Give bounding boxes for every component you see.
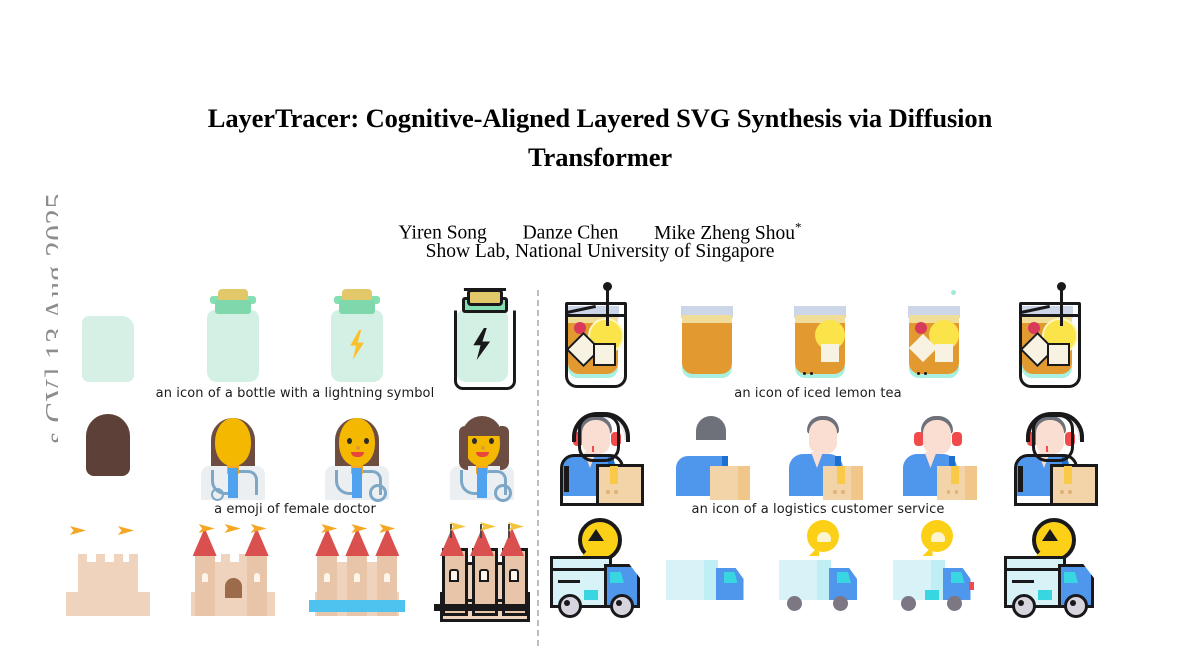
face-shape: [215, 418, 251, 466]
tea-step-4-art: [1002, 288, 1088, 384]
wheel-shape: [558, 594, 582, 618]
castle-tower: [472, 520, 492, 616]
left-panel: an icon of a bottle with a lightning sym…: [60, 288, 530, 636]
figure-cell: [1002, 520, 1088, 616]
wheel-hub-shape: [616, 600, 622, 606]
figure-cell: [434, 520, 530, 616]
stethoscope-icon: [239, 470, 258, 495]
agent-step-1-art: [662, 404, 748, 500]
tower-window-shape: [509, 569, 519, 582]
tower-roof-shape: [315, 528, 339, 556]
step-shape: [1038, 590, 1052, 600]
cargo-line-shape: [558, 580, 580, 583]
box-dot-shape: [614, 490, 618, 494]
castle-tower: [195, 520, 215, 616]
truck-step-1-art: [662, 520, 748, 616]
right-panel: an icon of iced lemon tea: [548, 288, 1088, 636]
bottle-neck-shape: [215, 300, 251, 314]
tea-step-3-art: [889, 288, 975, 384]
teaser-figure: an icon of a bottle with a lightning sym…: [0, 288, 1200, 648]
tower-roof-shape: [440, 528, 464, 556]
box-tape-shape: [837, 466, 845, 484]
figure-cell: [889, 520, 975, 616]
castle-door-shape: [225, 578, 242, 598]
stirrer-knob-shape: [1057, 282, 1066, 291]
cargo-line-shape: [1012, 580, 1034, 583]
bottle-body-shape: [82, 316, 134, 382]
figure-cell: [889, 288, 975, 384]
figure-cell: [775, 288, 861, 384]
step-shape: [925, 590, 939, 600]
flag-pole-shape: [508, 524, 510, 538]
wheel-shape: [787, 596, 802, 611]
flag-pole-shape: [450, 524, 452, 538]
agent-reference-art: [548, 404, 634, 500]
face-shape: [923, 420, 951, 454]
row-caption: a emoji of female doctor: [60, 500, 530, 520]
castle-step-4-art: [434, 520, 530, 616]
flag-pole-shape: [480, 524, 482, 538]
tea-step-1-art: [662, 288, 748, 384]
castle-tower: [247, 520, 267, 616]
tie-shape: [477, 468, 487, 498]
tea-top-shape: [682, 315, 732, 323]
bottle-step-2-art: [185, 288, 281, 384]
figure-cell: [1002, 404, 1088, 500]
box-dot-shape: [1068, 490, 1072, 494]
package-box-icon: [1050, 464, 1098, 506]
headset-icon: [572, 412, 630, 442]
castle-wall-shape: [78, 562, 138, 596]
ice-cube-shape: [935, 344, 953, 362]
earpiece-shape: [952, 432, 962, 446]
box-tape-shape: [610, 466, 618, 484]
figure-cell: [309, 404, 405, 500]
tower-window-shape: [479, 569, 489, 582]
stethoscope-bell-icon: [211, 488, 224, 501]
box-dot-shape: [955, 490, 959, 494]
tower-body-shape: [247, 554, 267, 616]
nose-shape: [481, 446, 485, 450]
figure-row: [60, 520, 530, 636]
wheel-shape: [1012, 594, 1036, 618]
castle-step-2-art: [185, 520, 281, 616]
figure-cell: [548, 520, 634, 616]
wheel-shape: [833, 596, 848, 611]
figure-cell: [775, 520, 861, 616]
figure-cell: [60, 404, 156, 500]
castle-step-3-art: [309, 520, 405, 616]
wheel-hub-shape: [1070, 600, 1076, 606]
bottle-neck-shape: [339, 300, 375, 314]
figure-cell: [1002, 288, 1088, 384]
tower-roof-shape: [500, 528, 524, 556]
row-caption: [548, 616, 1088, 636]
tower-roof-shape: [345, 528, 369, 556]
doctor-step-2-art: [185, 404, 281, 500]
bubble-glyph-shape: [817, 532, 831, 542]
tower-body-shape: [195, 554, 215, 616]
doctor-step-1-art: [60, 404, 156, 500]
figure-cell: [185, 404, 281, 500]
figure-row-cells: [60, 520, 530, 616]
stethoscope-bell-icon: [494, 484, 512, 502]
tower-window-shape: [354, 573, 360, 582]
box-tape-shape: [1064, 466, 1072, 484]
bubble-dot-shape: [810, 372, 813, 375]
cargo-line-shape: [552, 568, 604, 571]
merlon-shape: [129, 554, 138, 564]
figure-cell: [889, 404, 975, 500]
figure-cell: [434, 288, 530, 384]
figure-cell: [309, 288, 405, 384]
corresponding-author-mark: *: [795, 219, 802, 234]
sleeve-shape: [564, 466, 569, 492]
castle-tower: [502, 520, 522, 616]
wheel-shape: [947, 596, 962, 611]
castle-step-1-art: [60, 520, 156, 616]
panel-divider: [537, 290, 539, 646]
agent-step-3-art: [889, 404, 975, 500]
merlon-shape: [78, 554, 87, 564]
figure-row: an icon of a bottle with a lightning sym…: [60, 288, 530, 404]
doctor-step-3-art: [309, 404, 405, 500]
agent-step-4-art: [1002, 404, 1088, 500]
merlon-shape: [96, 554, 105, 564]
figure-cell: [309, 520, 405, 616]
figure-cell: [548, 404, 634, 500]
figure-cell: [548, 288, 634, 384]
stirrer-shape: [1060, 286, 1063, 326]
tea-reference-art: [548, 288, 634, 384]
truck-reference-art: [548, 520, 634, 616]
hair-silhouette-shape: [86, 414, 130, 476]
wheel-shape: [610, 594, 634, 618]
figure-row: [548, 520, 1088, 636]
figure-row: an icon of iced lemon tea: [548, 288, 1088, 404]
tea-liquid-shape: [682, 316, 732, 374]
water-shape: [309, 600, 405, 612]
bottle-step-3-art: [309, 288, 405, 384]
hair-bang-shape: [462, 416, 502, 436]
box-dot-shape: [1060, 490, 1064, 494]
cherry-icon: [915, 322, 927, 334]
cargo-highlight-shape: [817, 560, 831, 600]
agent-step-2-art: [775, 404, 861, 500]
bubble-dot-shape: [924, 372, 927, 375]
figure-row-cells: [548, 404, 1088, 500]
row-caption: an icon of iced lemon tea: [548, 384, 1088, 404]
ground-line-shape: [434, 604, 530, 611]
truck-step-2-art: [775, 520, 861, 616]
figure-cell: [185, 288, 281, 384]
box-shade-shape: [965, 466, 977, 500]
eye-shape: [489, 438, 494, 444]
stirrer-knob-shape: [603, 282, 612, 291]
castle-tower: [442, 520, 462, 616]
figure-cell: [60, 520, 156, 616]
accent-dot-shape: [951, 290, 956, 295]
figure-cell: [662, 288, 748, 384]
wheel-hub-shape: [1018, 600, 1024, 606]
tower-window-shape: [324, 573, 330, 582]
tie-shape: [352, 468, 362, 498]
stirrer-shape: [606, 286, 609, 326]
figure-cell: [775, 404, 861, 500]
face-shape: [339, 418, 375, 466]
figure-cell: [434, 404, 530, 500]
box-dot-shape: [841, 490, 845, 494]
flag-icon: [118, 526, 134, 535]
doctor-step-4-art: [434, 404, 530, 500]
tower-roof-shape: [470, 528, 494, 556]
glass-rim-shape: [565, 314, 625, 317]
box-tape-shape: [951, 466, 959, 484]
face-shape: [809, 420, 837, 454]
tower-window-shape: [384, 573, 390, 582]
tower-window-shape: [202, 573, 208, 582]
bubble-dot-shape: [803, 372, 806, 375]
figure-row: an icon of a logistics customer service: [548, 404, 1088, 520]
box-dot-shape: [833, 490, 837, 494]
bottle-cap-shape: [218, 289, 248, 300]
tower-window-shape: [449, 569, 459, 582]
head-silhouette-shape: [696, 416, 726, 440]
eye-shape: [472, 438, 477, 444]
flag-icon: [70, 526, 86, 535]
figure-cell: [662, 404, 748, 500]
package-box-icon: [596, 464, 644, 506]
figure-cell: [185, 520, 281, 616]
tea-step-2-art: [775, 288, 861, 384]
figure-row: a emoji of female doctor: [60, 404, 530, 520]
flag-icon: [225, 524, 241, 533]
tower-window-shape: [254, 573, 260, 582]
box-shade-shape: [738, 466, 750, 500]
figure-cell: [60, 288, 156, 384]
wheel-hub-shape: [564, 600, 570, 606]
bottle-cap-shape: [342, 289, 372, 300]
bottle-cap-shape: [467, 289, 503, 306]
sleeve-shape: [1018, 466, 1023, 492]
page-title: LayerTracer: Cognitive-Aligned Layered S…: [170, 99, 1030, 177]
figure-row-cells: [548, 288, 1088, 384]
wheel-shape: [901, 596, 916, 611]
bubble-glyph-shape: [931, 532, 945, 542]
bubble-dot-shape: [917, 372, 920, 375]
bottle-step-4-art: [434, 288, 530, 384]
bottle-step-1-art: [60, 288, 156, 384]
merlon-shape: [221, 554, 230, 564]
bottle-body-shape: [207, 310, 259, 382]
merlon-shape: [114, 554, 123, 564]
cargo-line-shape: [1006, 568, 1058, 571]
truck-step-4-art: [1002, 520, 1088, 616]
affiliation: Show Lab, National University of Singapo…: [170, 241, 1030, 263]
tower-roof-shape: [245, 528, 269, 556]
ice-cube-shape: [821, 344, 839, 362]
wheel-shape: [1064, 594, 1088, 618]
figure-row-cells: [60, 288, 530, 384]
figure-row-cells: [548, 520, 1088, 616]
step-shape: [584, 590, 598, 600]
truck-step-3-art: [889, 520, 975, 616]
figure-row-cells: [60, 404, 530, 500]
glass-rim-shape: [1019, 314, 1079, 317]
box-shade-shape: [851, 466, 863, 500]
tower-roof-shape: [193, 528, 217, 556]
headset-icon: [1026, 412, 1084, 442]
taillight-shape: [969, 582, 974, 590]
figure-cell: [662, 520, 748, 616]
box-dot-shape: [606, 490, 610, 494]
tie-shape: [228, 468, 238, 498]
box-dot-shape: [947, 490, 951, 494]
tower-roof-shape: [375, 528, 399, 556]
